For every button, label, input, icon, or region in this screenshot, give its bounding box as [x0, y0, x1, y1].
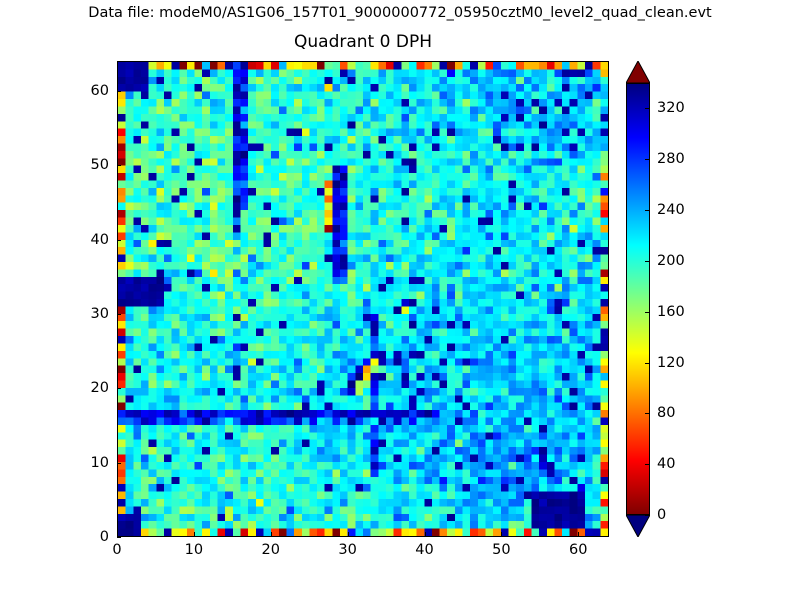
colorbar-tick-mark — [645, 515, 650, 516]
colorbar-tick-label: 240 — [657, 202, 685, 218]
y-tick-label: 10 — [69, 455, 109, 471]
x-tick-label: 50 — [492, 542, 510, 558]
y-tick-label: 0 — [69, 529, 109, 545]
colorbar-tick-mark — [645, 159, 650, 160]
colorbar-tick-mark — [645, 363, 650, 364]
colorbar-tick-label: 80 — [657, 405, 675, 421]
colorbar-tick-label: 0 — [657, 507, 666, 523]
colorbar[interactable] — [626, 61, 650, 537]
heatmap-axes[interactable] — [117, 61, 609, 537]
figure-canvas: Data file: modeM0/AS1G06_157T01_90000007… — [0, 0, 800, 600]
x-tick-label: 30 — [338, 542, 356, 558]
colorbar-tick-mark — [645, 108, 650, 109]
colorbar-tick-mark — [645, 413, 650, 414]
y-tick-mark — [117, 463, 121, 464]
colorbar-gradient-body[interactable] — [626, 83, 650, 515]
colorbar-tick-mark — [645, 464, 650, 465]
colorbar-tick-mark — [645, 210, 650, 211]
data-file-suptitle: Data file: modeM0/AS1G06_157T01_90000007… — [0, 5, 800, 21]
x-tick-mark — [578, 532, 579, 536]
x-tick-label: 0 — [112, 542, 121, 558]
colorbar-tick-label: 320 — [657, 100, 685, 116]
x-tick-mark — [194, 532, 195, 536]
colorbar-tick-label: 200 — [657, 253, 685, 269]
x-tick-mark — [501, 532, 502, 536]
colorbar-extend-max-arrow — [626, 61, 650, 83]
colorbar-tick-label: 280 — [657, 151, 685, 167]
x-tick-mark — [425, 532, 426, 536]
colorbar-tick-mark — [645, 261, 650, 262]
colorbar-extend-min-arrow — [626, 515, 650, 537]
colorbar-tick-label: 40 — [657, 456, 675, 472]
y-tick-label: 20 — [69, 380, 109, 396]
x-tick-mark — [117, 532, 118, 536]
x-tick-mark — [271, 532, 272, 536]
x-tick-label: 60 — [569, 542, 587, 558]
heatmap-image[interactable] — [118, 62, 608, 536]
y-tick-mark — [117, 537, 121, 538]
x-tick-label: 20 — [262, 542, 280, 558]
y-tick-mark — [117, 91, 121, 92]
colorbar-tick-mark — [645, 312, 650, 313]
y-tick-label: 40 — [69, 232, 109, 248]
colorbar-gradient — [627, 84, 649, 514]
y-tick-label: 30 — [69, 306, 109, 322]
y-tick-mark — [117, 388, 121, 389]
y-tick-label: 50 — [69, 157, 109, 173]
page-title: Quadrant 0 DPH — [117, 32, 609, 52]
y-tick-mark — [117, 240, 121, 241]
x-tick-label: 40 — [415, 542, 433, 558]
y-tick-mark — [117, 165, 121, 166]
x-tick-mark — [348, 532, 349, 536]
colorbar-tick-label: 160 — [657, 304, 685, 320]
y-tick-label: 60 — [69, 83, 109, 99]
colorbar-tick-label: 120 — [657, 355, 685, 371]
x-tick-label: 10 — [185, 542, 203, 558]
y-tick-mark — [117, 314, 121, 315]
